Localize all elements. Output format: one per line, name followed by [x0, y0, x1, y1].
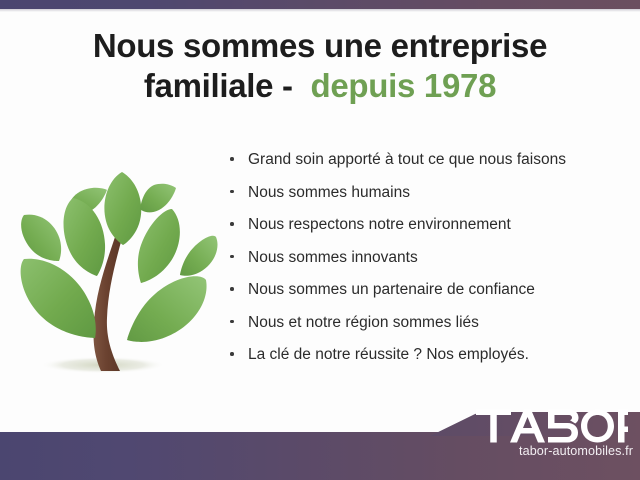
- list-item-label: Nous sommes innovants: [248, 249, 418, 266]
- slide-canvas: Nous sommes une entreprise familiale - d…: [0, 0, 640, 480]
- bullet-dot-icon: [230, 222, 234, 226]
- list-item-label: Nous respectons notre environnement: [248, 216, 511, 233]
- list-item: Nous sommes un partenaire de confiance: [229, 280, 629, 300]
- headline-line-2: familiale - depuis 1978: [40, 66, 600, 106]
- bullet-dot-icon: [230, 352, 234, 356]
- list-item: Grand soin apporté à tout ce que nous fa…: [229, 150, 629, 170]
- list-item: Nous et notre région sommes liés: [229, 313, 629, 333]
- bullet-dot-icon: [230, 157, 234, 161]
- list-item: Nous respectons notre environnement: [229, 215, 629, 235]
- headline-line-2-black: familiale -: [144, 67, 293, 104]
- tabor-logo[interactable]: tabor-automobiles.fr: [476, 409, 636, 471]
- list-item-label: Nous sommes humains: [248, 184, 410, 201]
- bullet-dot-icon: [230, 190, 234, 194]
- bullet-dot-icon: [230, 255, 234, 259]
- list-item: La clé de notre réussite ? Nos employés.: [229, 345, 629, 365]
- list-item-label: La clé de notre réussite ? Nos employés.: [248, 346, 529, 363]
- headline-line-1: Nous sommes une entreprise: [40, 26, 600, 66]
- list-item-label: Grand soin apporté à tout ce que nous fa…: [248, 151, 566, 168]
- list-item-label: Nous et notre région sommes liés: [248, 314, 479, 331]
- tree-illustration: [12, 152, 227, 390]
- top-accent-bar-shadow: [0, 9, 640, 12]
- benefits-list: Grand soin apporté à tout ce que nous fa…: [229, 150, 629, 378]
- tabor-tagline: tabor-automobiles.fr: [476, 444, 636, 459]
- headline-line-2-green: depuis 1978: [311, 67, 497, 104]
- list-item: Nous sommes innovants: [229, 248, 629, 268]
- list-item-label: Nous sommes un partenaire de confiance: [248, 281, 535, 298]
- tree-leaves: [21, 172, 218, 342]
- bullet-dot-icon: [230, 320, 234, 324]
- bullet-dot-icon: [230, 287, 234, 291]
- tabor-wordmark-icon: [476, 409, 628, 443]
- list-item: Nous sommes humains: [229, 183, 629, 203]
- page-title: Nous sommes une entreprise familiale - d…: [40, 26, 600, 106]
- top-accent-bar: [0, 0, 640, 9]
